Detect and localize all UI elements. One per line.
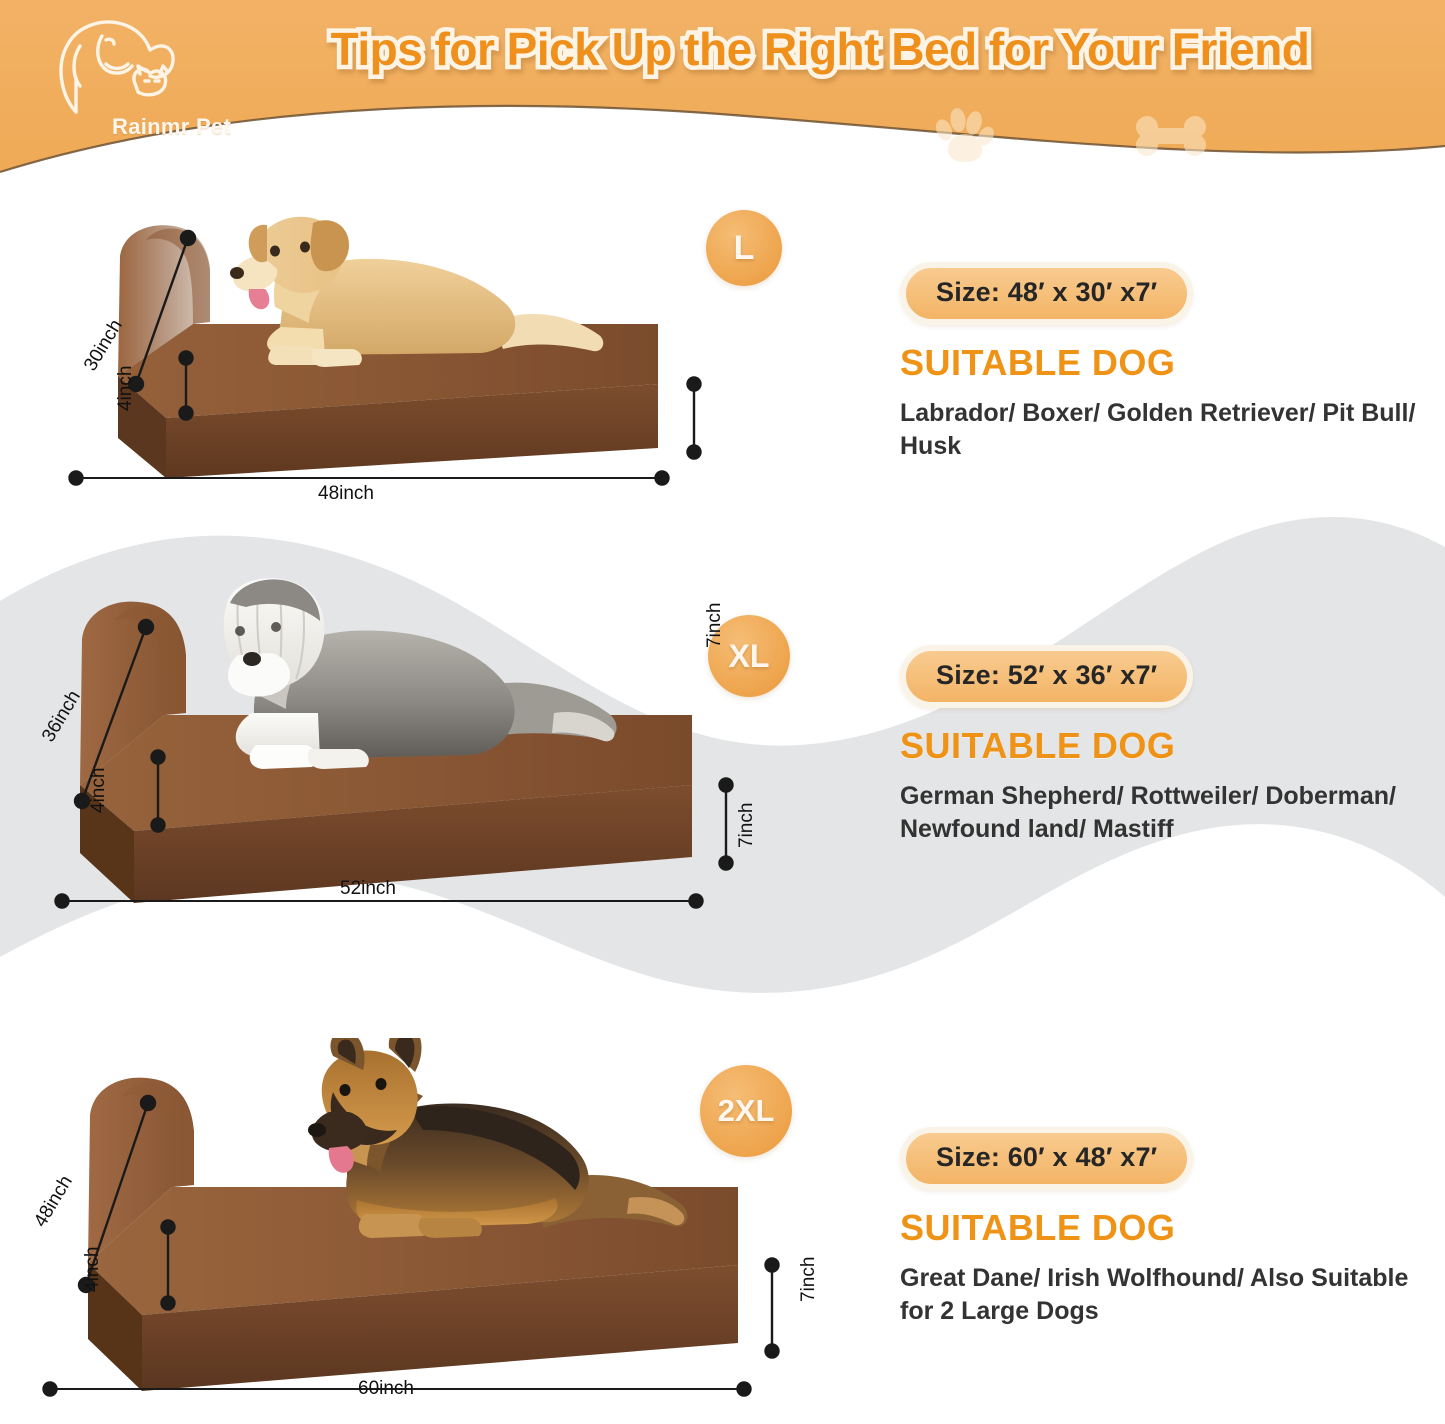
breed-list-xl: German Shepherd/ Rottweiler/ Doberman/ N… bbox=[900, 780, 1420, 845]
paw-print-icon bbox=[933, 106, 995, 164]
size-pill-l: Size: 48′ x 30′ x7′ bbox=[900, 262, 1193, 325]
dim-height-xl: 7inch bbox=[736, 803, 758, 848]
bed-illustration-xl bbox=[34, 585, 746, 925]
info-panel-l: Size: 48′ x 30′ x7′ SUITABLE DOG Labrado… bbox=[900, 262, 1430, 462]
brand-name: Rainmr Pet bbox=[112, 114, 231, 140]
dim-bolster-l: 4inch bbox=[115, 366, 137, 411]
size-pill-2xl: Size: 60′ x 48′ x7′ bbox=[900, 1127, 1193, 1190]
dimension-lines-2xl bbox=[22, 1075, 792, 1405]
info-panel-2xl: Size: 60′ x 48′ x7′ SUITABLE DOG Great D… bbox=[900, 1127, 1430, 1327]
dim-bolster-2xl: 4inch bbox=[82, 1247, 104, 1292]
brand-logo: Rainmr Pet bbox=[28, 16, 238, 138]
dim-height-2xl: 7inch bbox=[798, 1257, 820, 1302]
size-pill-xl: Size: 52′ x 36′ x7′ bbox=[900, 645, 1193, 708]
dim-bolster-xl: 4inch bbox=[88, 768, 110, 813]
breed-list-2xl: Great Dane/ Irish Wolfhound/ Also Suitab… bbox=[900, 1262, 1420, 1327]
suitable-heading-xl: SUITABLE DOG bbox=[900, 725, 1430, 767]
suitable-heading-2xl: SUITABLE DOG bbox=[900, 1207, 1430, 1249]
dim-width-2xl: 60inch bbox=[358, 1378, 414, 1400]
page-title: Tips for Pick Up the Right Bed for Your … bbox=[215, 26, 1425, 72]
header-banner: Rainmr Pet Tips for Pick Up the Right Be… bbox=[0, 0, 1445, 190]
dimension-lines-xl bbox=[34, 585, 746, 925]
suitable-heading-l: SUITABLE DOG bbox=[900, 342, 1430, 384]
bed-illustration-l bbox=[58, 206, 708, 496]
infographic-page: Rainmr Pet Tips for Pick Up the Right Be… bbox=[0, 0, 1445, 1424]
bed-illustration-2xl bbox=[22, 1075, 792, 1405]
dim-width-xl: 52inch bbox=[340, 878, 396, 900]
dim-width-l: 48inch bbox=[318, 483, 374, 505]
breed-list-l: Labrador/ Boxer/ Golden Retriever/ Pit B… bbox=[900, 397, 1420, 462]
dog-cat-outline-icon bbox=[50, 16, 190, 116]
dimension-lines-l bbox=[58, 206, 708, 496]
info-panel-xl: Size: 52′ x 36′ x7′ SUITABLE DOG German … bbox=[900, 645, 1430, 845]
bone-icon bbox=[1133, 115, 1209, 157]
